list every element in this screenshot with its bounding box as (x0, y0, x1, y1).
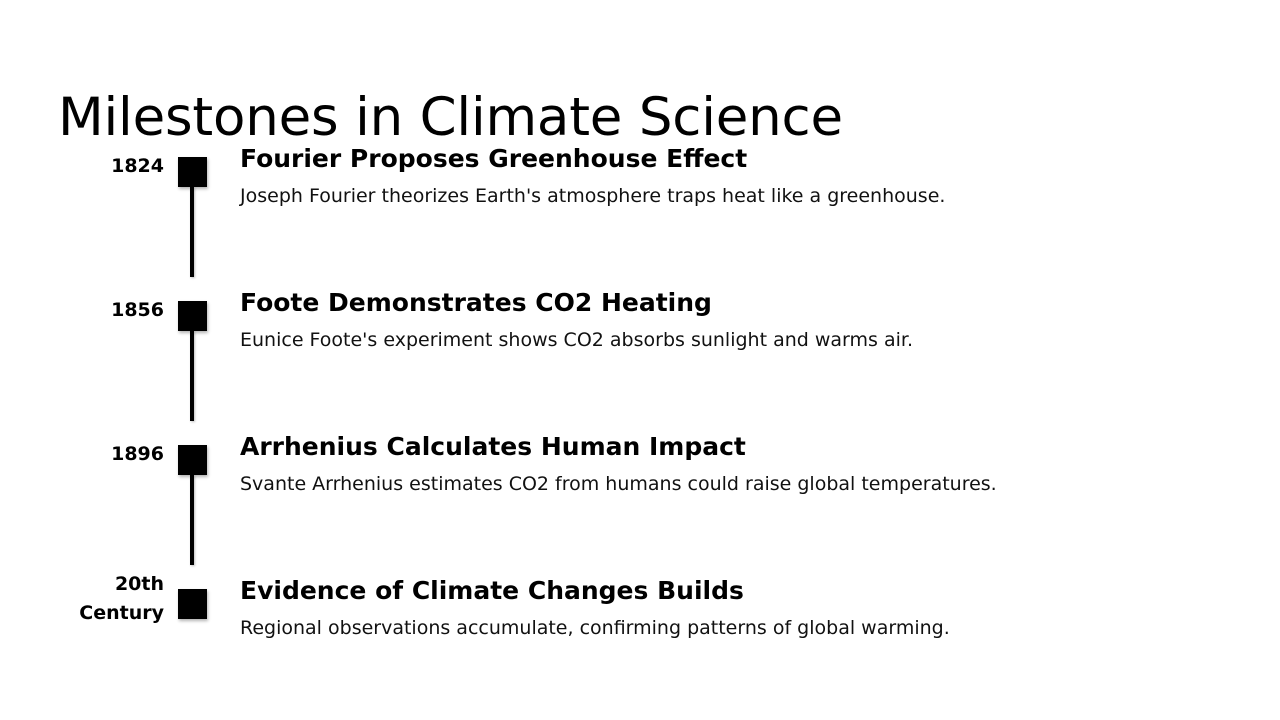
timeline-connector-line (190, 475, 194, 565)
timeline-year-label: 20th Century (0, 570, 164, 627)
timeline-entry: 1856 Foote Demonstrates CO2 Heating Euni… (0, 287, 1280, 431)
timeline-entry-body: Foote Demonstrates CO2 Heating Eunice Fo… (240, 287, 1250, 353)
timeline-marker-square (178, 157, 207, 187)
timeline-marker-square (178, 301, 207, 331)
timeline-entry-description: Regional observations accumulate, confir… (240, 616, 1250, 641)
timeline-entry-title: Fourier Proposes Greenhouse Effect (240, 143, 1250, 175)
timeline-entry-title: Evidence of Climate Changes Builds (240, 575, 1250, 607)
slide-canvas: Milestones in Climate Science 1824 Fouri… (0, 0, 1280, 720)
timeline-entry-body: Fourier Proposes Greenhouse Effect Josep… (240, 143, 1250, 209)
timeline-marker-square (178, 445, 207, 475)
timeline-entry-title: Arrhenius Calculates Human Impact (240, 431, 1250, 463)
timeline-entry: 1896 Arrhenius Calculates Human Impact S… (0, 431, 1280, 575)
timeline-entry: 20th Century Evidence of Climate Changes… (0, 575, 1280, 665)
timeline-entry-description: Svante Arrhenius estimates CO2 from huma… (240, 472, 1250, 497)
timeline: 1824 Fourier Proposes Greenhouse Effect … (0, 143, 1280, 665)
timeline-marker-square (178, 589, 207, 619)
timeline-year-label: 1824 (0, 152, 164, 181)
timeline-entry-description: Eunice Foote's experiment shows CO2 abso… (240, 328, 1250, 353)
timeline-connector-line (190, 187, 194, 277)
timeline-year-label: 1856 (0, 296, 164, 325)
timeline-entry-body: Evidence of Climate Changes Builds Regio… (240, 575, 1250, 641)
timeline-entry-description: Joseph Fourier theorizes Earth's atmosph… (240, 184, 1250, 209)
timeline-entry-body: Arrhenius Calculates Human Impact Svante… (240, 431, 1250, 497)
timeline-year-label: 1896 (0, 440, 164, 469)
page-title: Milestones in Climate Science (58, 88, 843, 149)
timeline-entry-title: Foote Demonstrates CO2 Heating (240, 287, 1250, 319)
timeline-connector-line (190, 331, 194, 421)
timeline-entry: 1824 Fourier Proposes Greenhouse Effect … (0, 143, 1280, 287)
